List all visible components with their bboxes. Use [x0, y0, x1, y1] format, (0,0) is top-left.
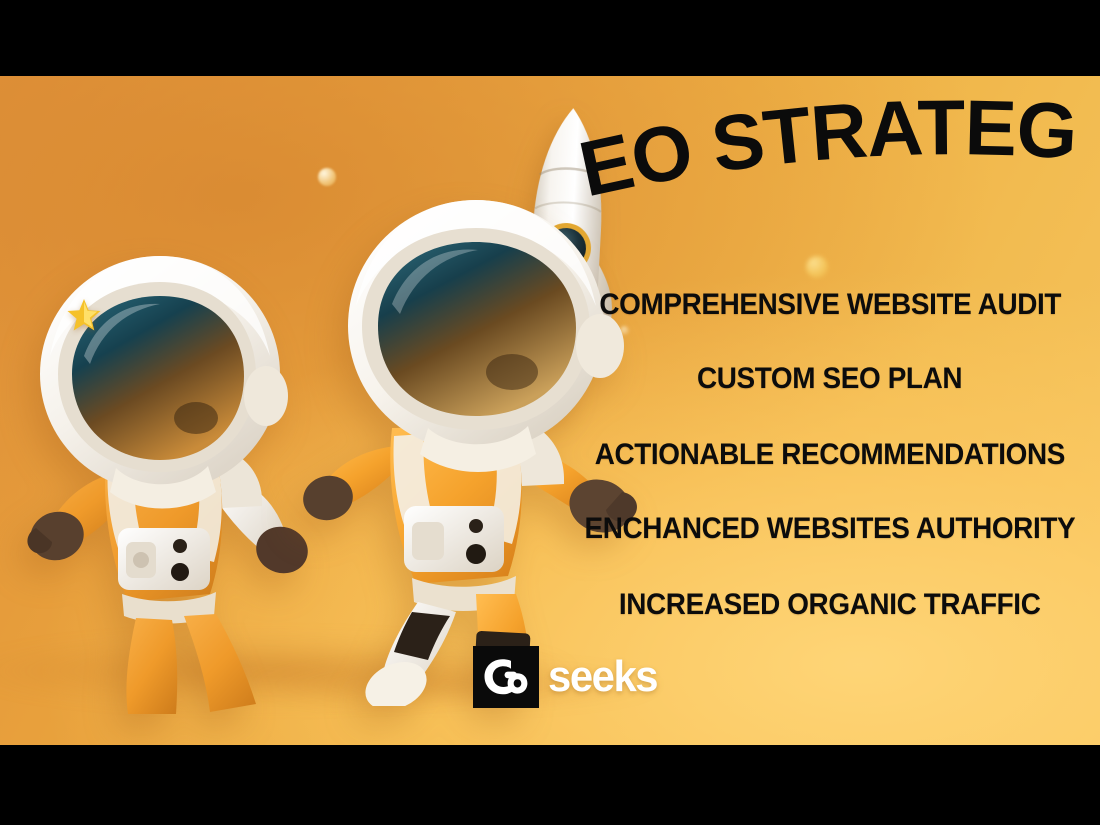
letterbox-bar-top	[0, 0, 1100, 76]
feature-item: COMPREHENSIVE WEBSITE AUDIT	[560, 290, 1100, 320]
feature-item-label: ENCHANCED WEBSITES AUTHORITY	[585, 514, 1076, 544]
poster-copy: SEO STRATEGY COMPREHENSIVE WEBSITE AUDIT…	[560, 76, 1100, 745]
feature-item: ENCHANCED WEBSITES AUTHORITY	[560, 514, 1100, 544]
logo-wordmark-text: seeks	[548, 655, 657, 699]
feature-item-label: ACTIONABLE RECOMMENDATIONS	[595, 440, 1065, 470]
feature-item-label: COMPREHENSIVE WEBSITE AUDIT	[599, 290, 1061, 320]
page-title: SEO STRATEGY	[560, 104, 1100, 214]
brand-logo: seeks	[473, 646, 663, 708]
feature-item: CUSTOM SEO PLAN	[560, 364, 1100, 394]
feature-item-label: CUSTOM SEO PLAN	[697, 364, 962, 394]
astronaut-left-illustration	[10, 206, 340, 716]
feature-item: ACTIONABLE RECOMMENDATIONS	[560, 440, 1100, 470]
feature-item: INCREASED ORGANIC TRAFFIC	[560, 590, 1100, 620]
logo-mark-go-icon	[473, 646, 539, 708]
video-thumbnail-frame: SEO STRATEGY COMPREHENSIVE WEBSITE AUDIT…	[0, 0, 1100, 825]
star-icon	[66, 297, 102, 333]
logo-wordmark: seeks	[548, 655, 663, 699]
letterbox-bar-bottom	[0, 745, 1100, 825]
feature-item-label: INCREASED ORGANIC TRAFFIC	[619, 590, 1041, 620]
